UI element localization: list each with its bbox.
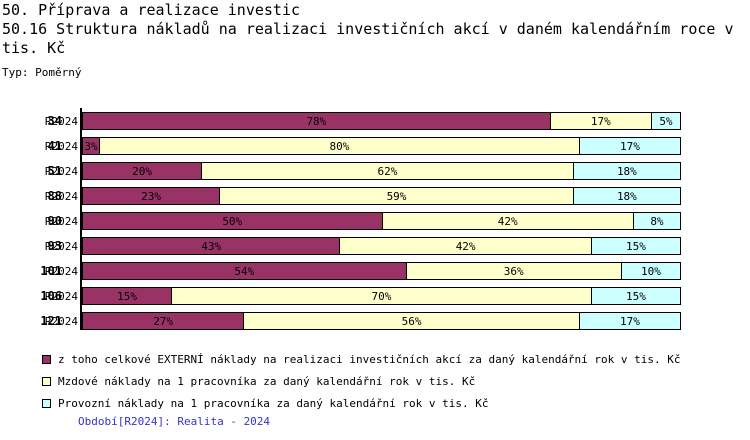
bar-segment[interactable]: 50%: [82, 212, 383, 230]
bar-row: 121R202427%56%17%: [0, 312, 750, 330]
bar-segment[interactable]: 3%: [82, 137, 100, 155]
row-period-label: R2024: [42, 315, 78, 328]
bar-segment[interactable]: 10%: [621, 262, 681, 280]
legend: z toho celkové EXTERNÍ náklady na realiz…: [0, 348, 750, 414]
bar-segment[interactable]: 15%: [591, 287, 681, 305]
row-period-label: R2024: [42, 240, 78, 253]
row-period-label: R2024: [42, 140, 78, 153]
legend-item-wage-costs[interactable]: Mzdové náklady na 1 pracovníka za daný k…: [0, 370, 750, 392]
legend-item-label: Provozní náklady na 1 pracovníka za daný…: [58, 397, 488, 410]
row-period-label: R2024: [42, 290, 78, 303]
bar-segment[interactable]: 15%: [82, 287, 172, 305]
bar-segment-label: 20%: [132, 166, 152, 177]
bar-segment-label: 27%: [153, 316, 173, 327]
row-period-label: R2024: [42, 190, 78, 203]
bar-segment-label: 42%: [498, 216, 518, 227]
legend-item-operating-costs[interactable]: Provozní náklady na 1 pracovníka za daný…: [0, 392, 750, 414]
bar-segment-label: 17%: [620, 141, 640, 152]
stacked-bar: 43%42%15%: [82, 237, 683, 255]
bar-segment[interactable]: 78%: [82, 112, 551, 130]
bar-segment[interactable]: 8%: [633, 212, 681, 230]
stacked-bar: 15%70%15%: [82, 287, 683, 305]
bar-segment-label: 59%: [387, 191, 407, 202]
bar-row: 51R202420%62%18%: [0, 162, 750, 180]
legend-swatch-icon: [42, 377, 51, 386]
legend-item-label: z toho celkové EXTERNÍ náklady na realiz…: [58, 353, 681, 366]
bar-segment[interactable]: 62%: [201, 162, 574, 180]
bar-row: 41R20243%80%17%: [0, 137, 750, 155]
row-period-label: R2024: [42, 215, 78, 228]
bar-segment[interactable]: 56%: [243, 312, 580, 330]
row-period-label: R2024: [42, 165, 78, 178]
chart-type-label: Typ: Poměrný: [2, 66, 81, 79]
bar-row: 106R202415%70%15%: [0, 287, 750, 305]
bar-segment-label: 23%: [141, 191, 161, 202]
legend-swatch-icon: [42, 355, 51, 364]
bar-segment-label: 43%: [201, 241, 221, 252]
bar-segment-label: 50%: [222, 216, 242, 227]
bar-segment-label: 42%: [456, 241, 476, 252]
legend-item-label: Mzdové náklady na 1 pracovníka za daný k…: [58, 375, 475, 388]
stacked-bar: 78%17%5%: [82, 112, 683, 130]
stacked-bar: 50%42%8%: [82, 212, 683, 230]
bar-segment-label: 18%: [617, 166, 637, 177]
bar-segment[interactable]: 23%: [82, 187, 220, 205]
bar-segment[interactable]: 18%: [573, 187, 681, 205]
bar-segment[interactable]: 27%: [82, 312, 244, 330]
stacked-bar: 54%36%10%: [82, 262, 683, 280]
bar-segment-label: 18%: [617, 191, 637, 202]
bar-segment-label: 70%: [372, 291, 392, 302]
row-period-label: R2024: [42, 265, 78, 278]
legend-swatch-icon: [42, 399, 51, 408]
bar-segment[interactable]: 70%: [171, 287, 592, 305]
report-title-line-2: 50.16 Struktura nákladů na realizaci inv…: [2, 20, 748, 58]
stacked-bar: 20%62%18%: [82, 162, 683, 180]
bar-segment[interactable]: 17%: [579, 137, 681, 155]
bar-segment-label: 15%: [626, 241, 646, 252]
bar-segment[interactable]: 54%: [82, 262, 407, 280]
bar-segment[interactable]: 42%: [382, 212, 634, 230]
bar-segment-label: 80%: [329, 141, 349, 152]
bar-row: 93R202443%42%15%: [0, 237, 750, 255]
bar-segment-label: 10%: [641, 266, 661, 277]
bar-row: 90R202450%42%8%: [0, 212, 750, 230]
bar-segment[interactable]: 5%: [651, 112, 681, 130]
bar-segment-label: 56%: [402, 316, 422, 327]
report-title-line-1: 50. Příprava a realizace investic: [2, 1, 748, 20]
row-period-label: R2024: [42, 115, 78, 128]
plot-area: 34R202478%17%5%41R20243%80%17%51R202420%…: [0, 105, 750, 337]
stacked-bar: 3%80%17%: [82, 137, 683, 155]
bar-row: 101R202454%36%10%: [0, 262, 750, 280]
bar-segment-label: 62%: [378, 166, 398, 177]
bar-segment-label: 17%: [591, 116, 611, 127]
bar-segment-label: 5%: [659, 116, 672, 127]
stacked-bar: 27%56%17%: [82, 312, 683, 330]
bar-segment-label: 36%: [504, 266, 524, 277]
bar-segment-label: 15%: [117, 291, 137, 302]
bar-segment-label: 15%: [626, 291, 646, 302]
bar-segment[interactable]: 80%: [99, 137, 580, 155]
stacked-bar: 23%59%18%: [82, 187, 683, 205]
bar-segment[interactable]: 15%: [591, 237, 681, 255]
period-note: Období[R2024]: Realita - 2024: [78, 415, 270, 428]
bar-segment-label: 54%: [234, 266, 254, 277]
bar-segment-label: 3%: [84, 141, 97, 152]
bar-row: 34R202478%17%5%: [0, 112, 750, 130]
bar-segment-label: 17%: [620, 316, 640, 327]
bar-segment[interactable]: 20%: [82, 162, 202, 180]
title-block: 50. Příprava a realizace investic 50.16 …: [2, 1, 748, 58]
bar-segment[interactable]: 59%: [219, 187, 574, 205]
legend-item-external-costs[interactable]: z toho celkové EXTERNÍ náklady na realiz…: [0, 348, 750, 370]
bar-segment[interactable]: 17%: [579, 312, 681, 330]
bar-segment[interactable]: 43%: [82, 237, 340, 255]
bar-segment[interactable]: 36%: [406, 262, 622, 280]
bar-segment-label: 78%: [306, 116, 326, 127]
bar-segment-label: 8%: [650, 216, 663, 227]
bar-segment[interactable]: 17%: [550, 112, 652, 130]
bar-row: 88R202423%59%18%: [0, 187, 750, 205]
bar-segment[interactable]: 18%: [573, 162, 681, 180]
bar-segment[interactable]: 42%: [339, 237, 591, 255]
chart-root: 50. Příprava a realizace investic 50.16 …: [0, 0, 750, 440]
